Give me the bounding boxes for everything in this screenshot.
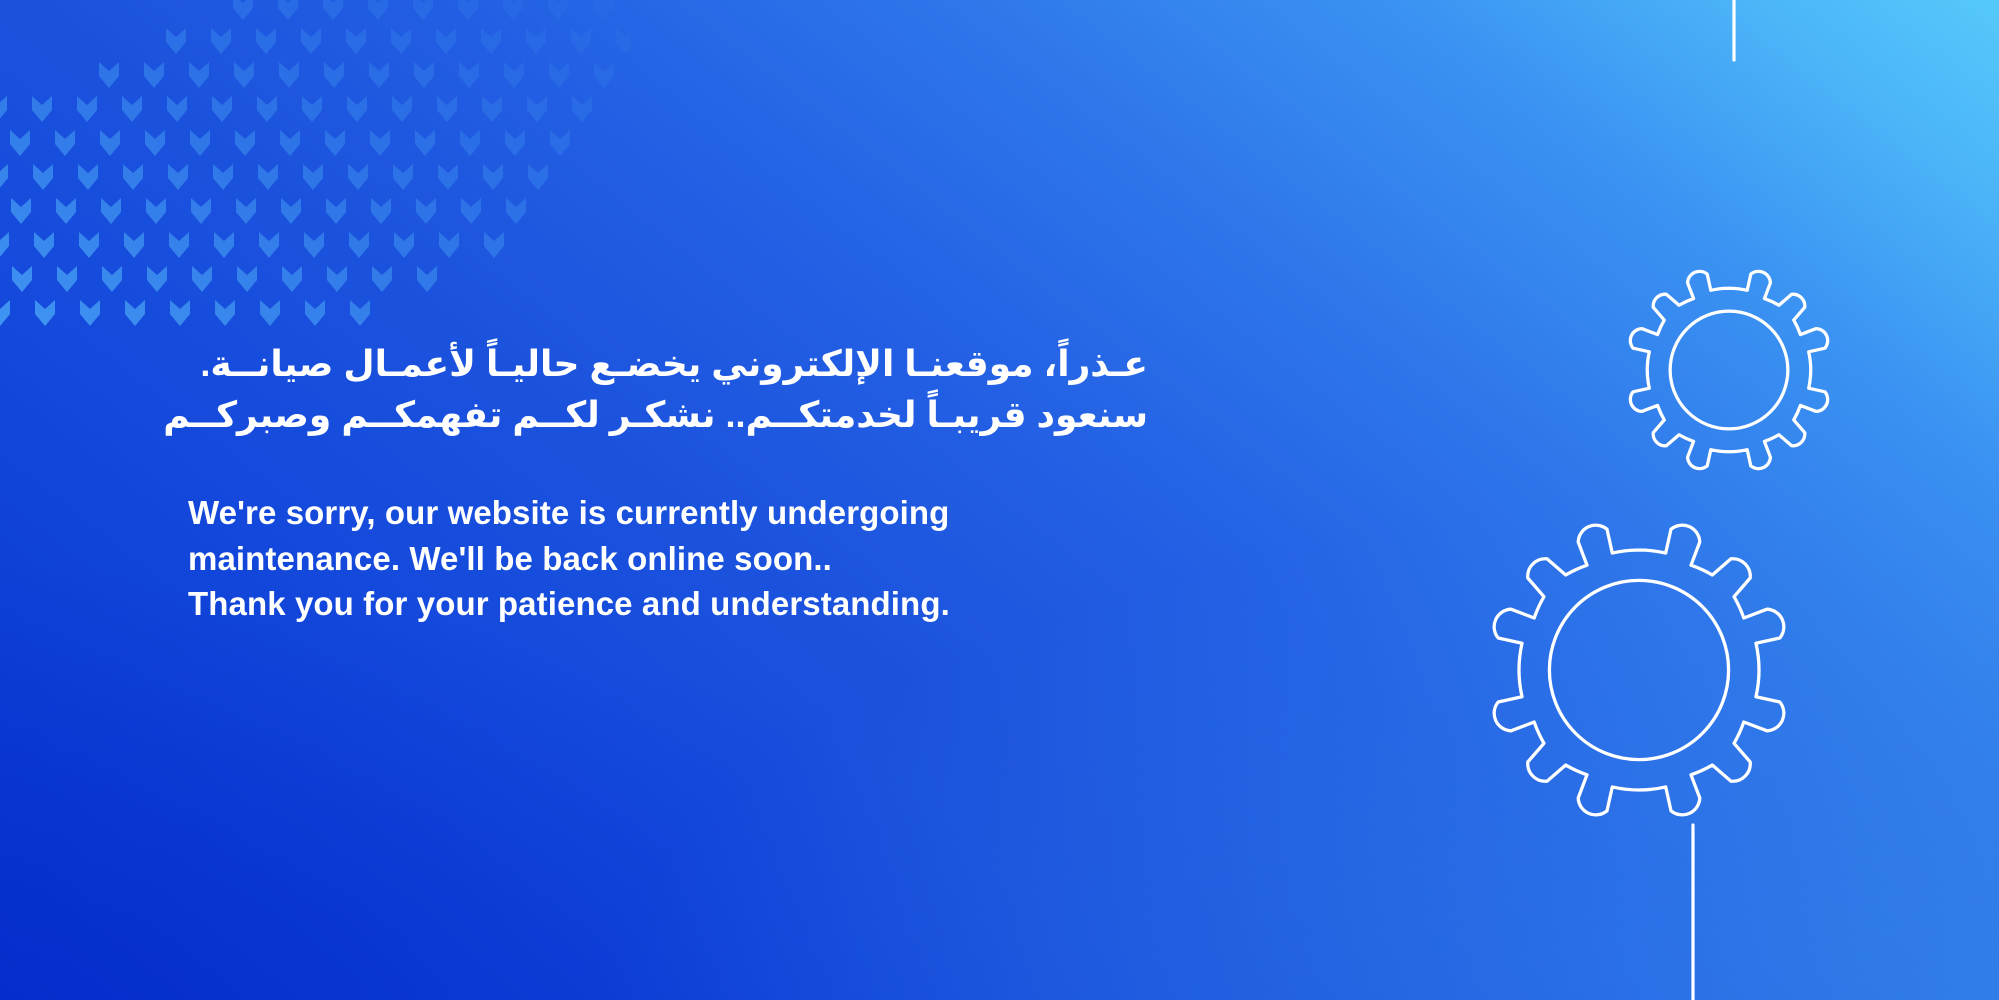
arabic-line-1: عـذراً، موقعنـا الإلكتروني يخضـع حاليـاً… [188, 338, 1148, 389]
english-message: We're sorry, our website is currently un… [188, 440, 1148, 627]
english-line-3: Thank you for your patience and understa… [188, 581, 1148, 627]
arabic-message: عـذراً، موقعنـا الإلكتروني يخضـع حاليـاً… [188, 338, 1148, 440]
english-line-2: maintenance. We'll be back online soon.. [188, 536, 1148, 582]
arabic-line-2: سنعود قريبـاً لخدمتكــم.. نشكـر لكــم تف… [188, 389, 1148, 440]
english-line-1: We're sorry, our website is currently un… [188, 490, 1148, 536]
maintenance-page: عـذراً، موقعنـا الإلكتروني يخضـع حاليـاً… [0, 0, 1999, 1000]
maintenance-message-block: عـذراً، موقعنـا الإلكتروني يخضـع حاليـاً… [188, 338, 1148, 627]
